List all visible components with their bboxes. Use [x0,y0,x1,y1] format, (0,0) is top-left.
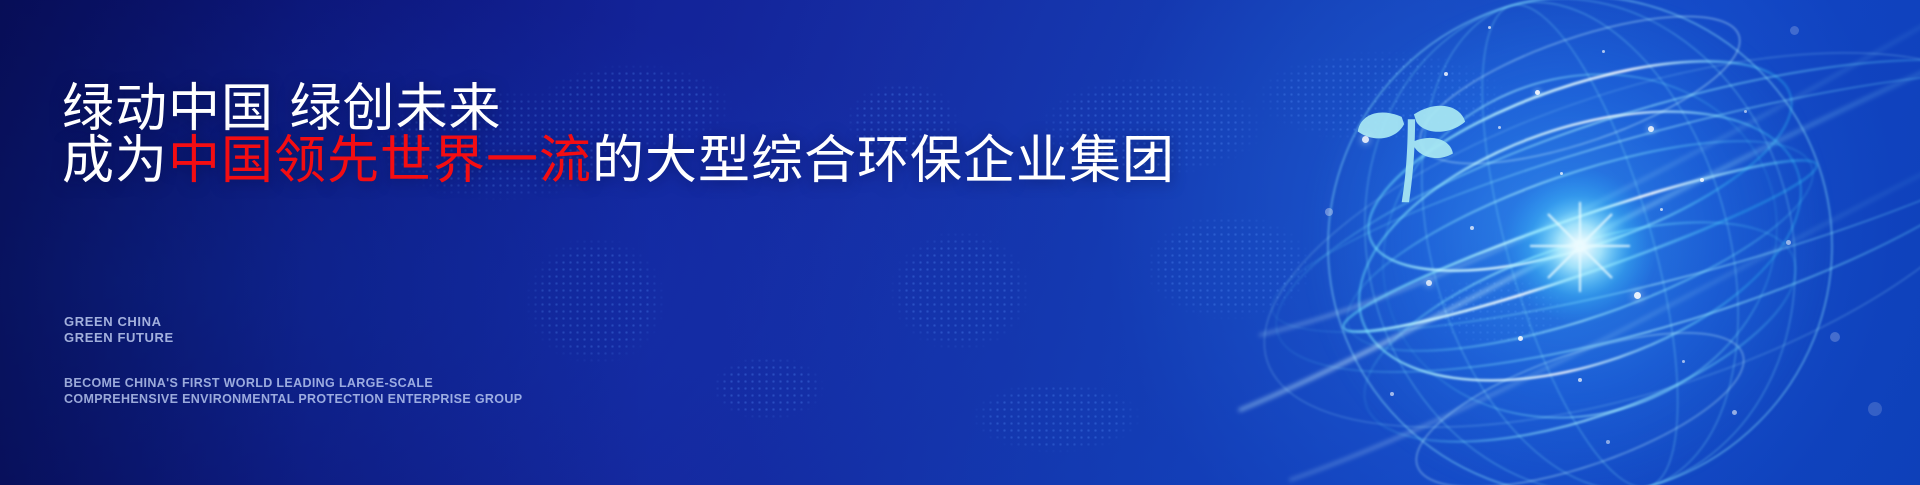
tagline-english-line-2: COMPREHENSIVE ENVIRONMENTAL PROTECTION E… [64,392,522,408]
headline-line-2: 成为中国领先世界一流的大型综合环保企业集团 [62,134,1175,189]
headline-line-1: 绿动中国 绿创未来 [62,82,501,137]
particle-starfield [1230,0,1920,485]
subtitle-english-line-2: GREEN FUTURE [64,330,174,346]
headline-red-emphasis: 中国领先世界一流 [168,132,592,190]
tagline-english-line-1: BECOME CHINA'S FIRST WORLD LEADING LARGE… [64,376,522,392]
globe-graphic [1230,0,1920,485]
headline-white-prefix: 成为 [62,132,168,190]
tagline-english: BECOME CHINA'S FIRST WORLD LEADING LARGE… [64,376,522,407]
headline-white-suffix: 的大型综合环保企业集团 [592,132,1175,190]
subtitle-english: GREEN CHINA GREEN FUTURE [64,314,174,346]
subtitle-english-line-1: GREEN CHINA [64,314,174,330]
hero-copy: 绿动中国 绿创未来 成为中国领先世界一流的大型综合环保企业集团 GREEN CH… [62,0,1142,485]
hero-banner: 绿动中国 绿创未来 成为中国领先世界一流的大型综合环保企业集团 GREEN CH… [0,0,1920,485]
